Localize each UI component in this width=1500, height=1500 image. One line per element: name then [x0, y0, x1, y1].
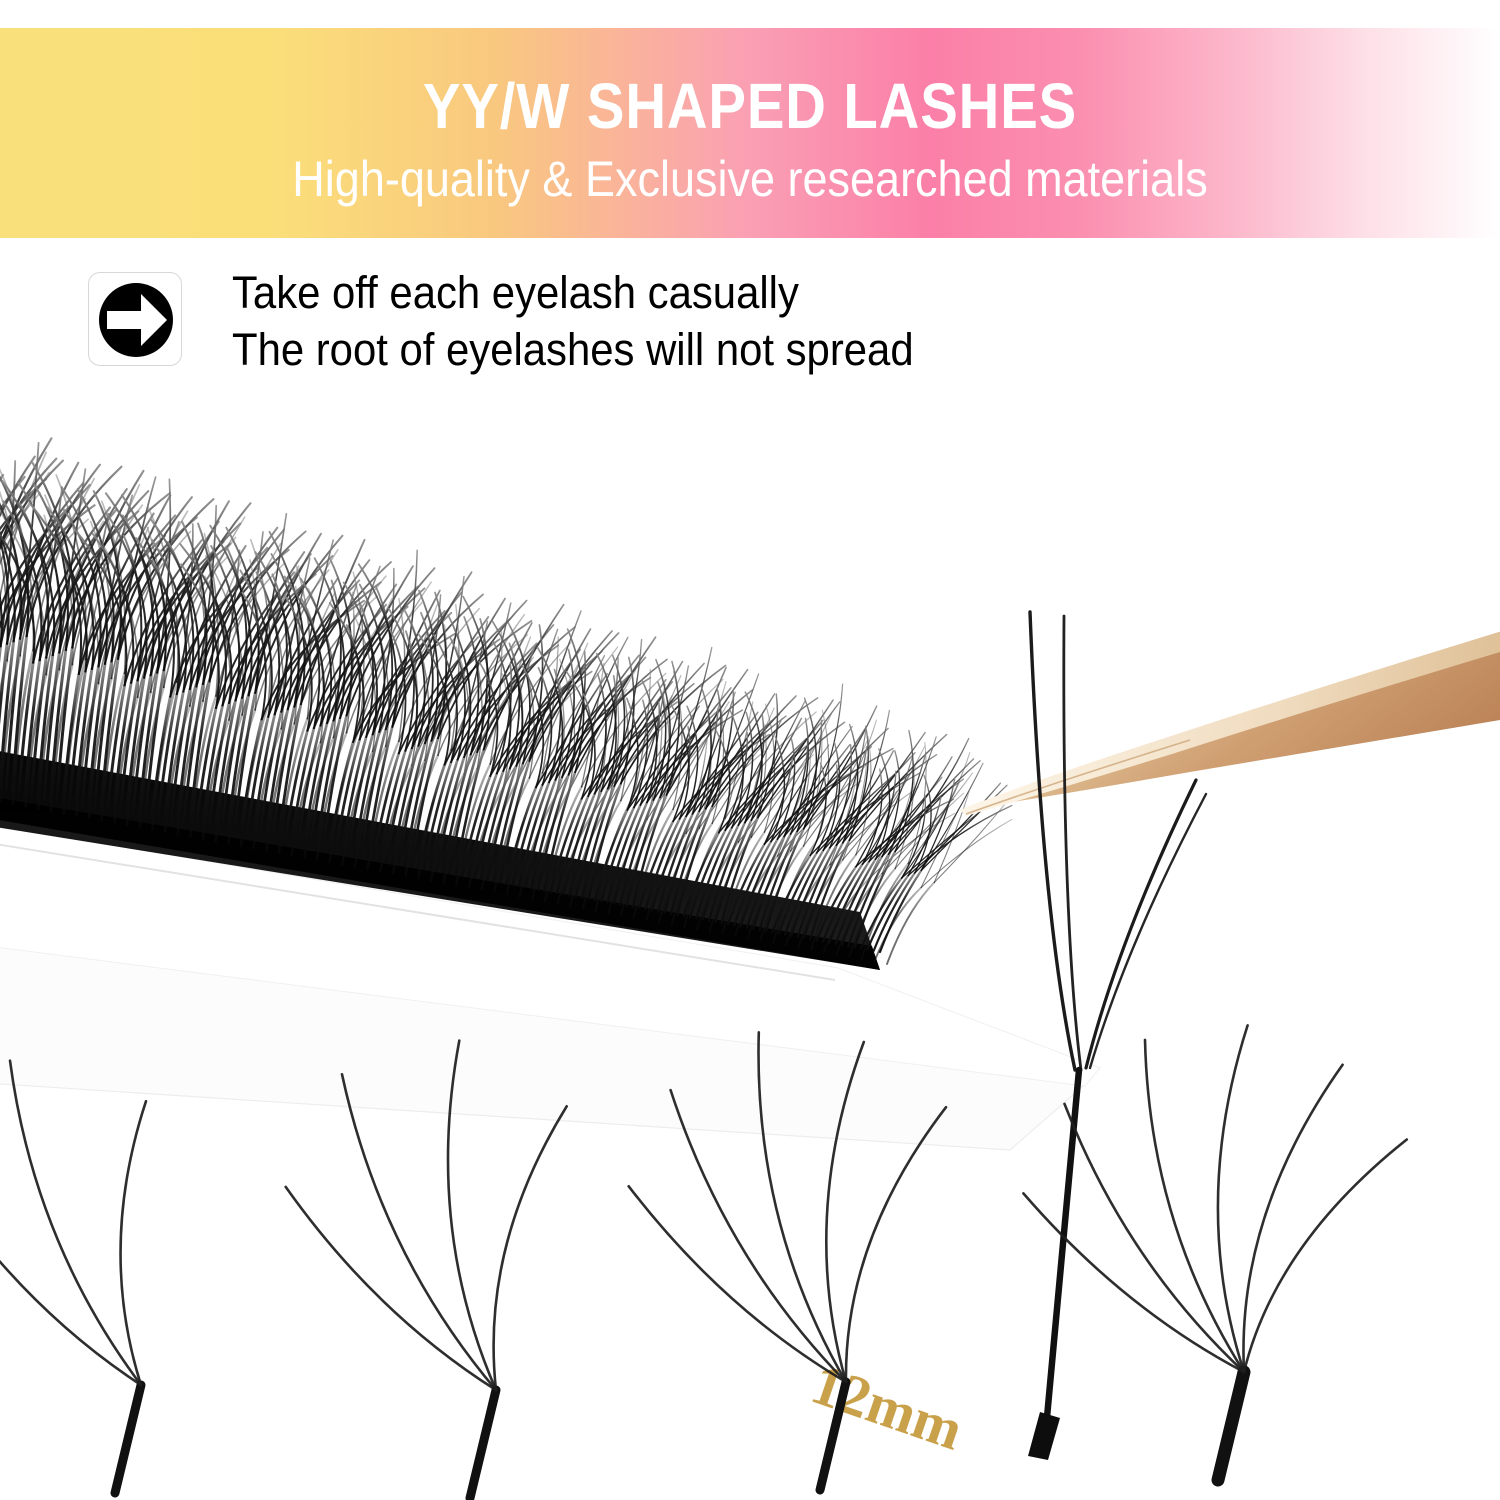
instruction-line-1: Take off each eyelash casually [232, 264, 1162, 321]
lash-photo-illustration: 12mm [0, 380, 1500, 1500]
instruction-line-2: The root of eyelashes will not spread [232, 321, 1162, 378]
product-photo: 12mm [0, 380, 1500, 1500]
arrow-icon-box [88, 272, 182, 366]
product-infographic: YY/W SHAPED LASHES High-quality & Exclus… [0, 0, 1500, 1500]
instruction-text: Take off each eyelash casually The root … [232, 264, 1162, 378]
page-subtitle: High-quality & Exclusive researched mate… [75, 154, 1425, 204]
page-title: YY/W SHAPED LASHES [90, 74, 1410, 138]
header-banner: YY/W SHAPED LASHES High-quality & Exclus… [0, 28, 1500, 238]
instruction-row: Take off each eyelash casually The root … [0, 268, 1500, 388]
